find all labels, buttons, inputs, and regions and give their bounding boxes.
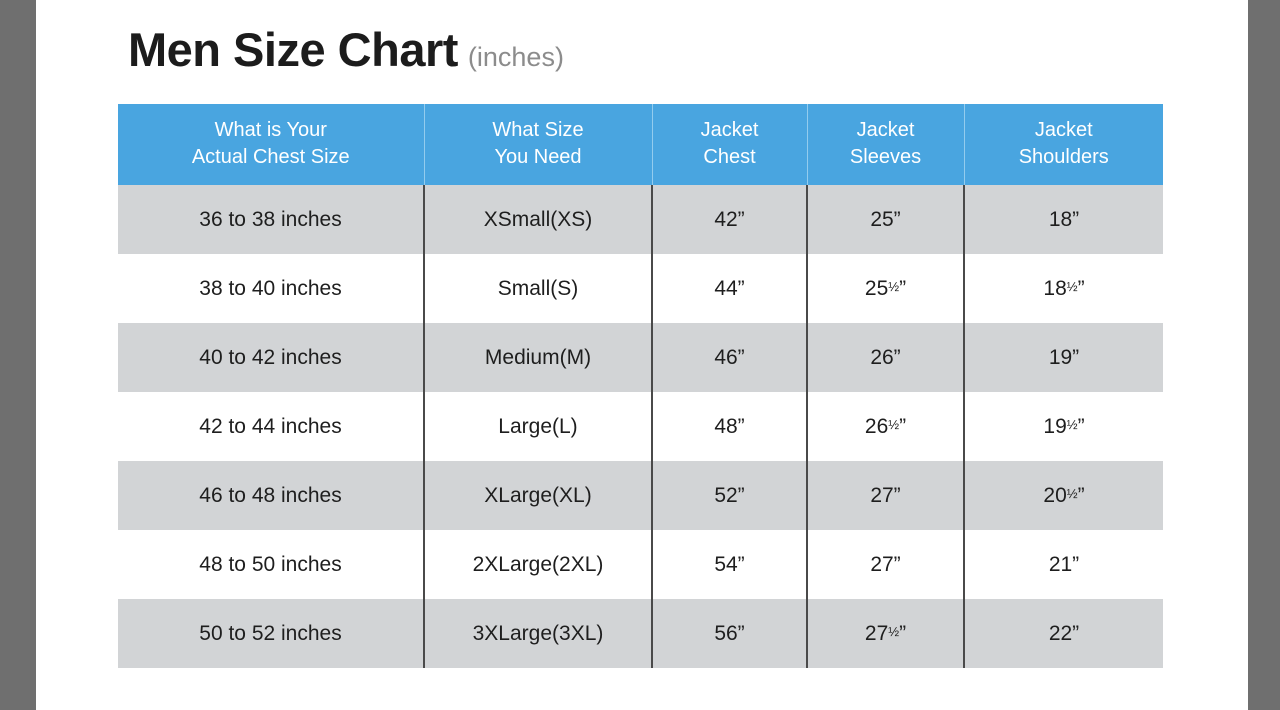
column-header-line1: Jacket xyxy=(812,117,960,144)
cell-size-you-need: Medium(M) xyxy=(424,323,652,392)
cell-actual-chest-size: 38 to 40 inches xyxy=(118,254,424,323)
table-row: 38 to 40 inchesSmall(S)44”25½”18½” xyxy=(118,254,1163,323)
page-title-unit: (inches) xyxy=(468,42,564,73)
column-header-jacket-sleeves: Jacket Sleeves xyxy=(807,104,964,185)
column-header-line1: Jacket xyxy=(657,117,803,144)
cell-jacket-chest: 54” xyxy=(652,530,807,599)
column-header-line2: Actual Chest Size xyxy=(122,144,420,171)
cell-size-you-need: Large(L) xyxy=(424,392,652,461)
column-header-size-you-need: What Size You Need xyxy=(424,104,652,185)
cell-jacket-sleeves: 27” xyxy=(807,530,964,599)
cell-jacket-chest: 42” xyxy=(652,185,807,254)
column-header-line1: What is Your xyxy=(122,117,420,144)
cell-jacket-shoulders: 19½” xyxy=(964,392,1163,461)
cell-actual-chest-size: 50 to 52 inches xyxy=(118,599,424,668)
cell-jacket-sleeves: 25” xyxy=(807,185,964,254)
size-chart-table: What is Your Actual Chest Size What Size… xyxy=(118,104,1163,668)
half-fraction: ½ xyxy=(1067,485,1078,500)
cell-jacket-chest: 52” xyxy=(652,461,807,530)
table-row: 42 to 44 inchesLarge(L)48”26½”19½” xyxy=(118,392,1163,461)
column-header-jacket-chest: Jacket Chest xyxy=(652,104,807,185)
cell-jacket-chest: 44” xyxy=(652,254,807,323)
cell-actual-chest-size: 46 to 48 inches xyxy=(118,461,424,530)
column-header-line2: You Need xyxy=(429,144,648,171)
column-header-jacket-shoulders: Jacket Shoulders xyxy=(964,104,1163,185)
column-header-actual-chest-size: What is Your Actual Chest Size xyxy=(118,104,424,185)
cell-size-you-need: 3XLarge(3XL) xyxy=(424,599,652,668)
cell-size-you-need: XSmall(XS) xyxy=(424,185,652,254)
chart-page: Men Size Chart (inches) What is Your Act… xyxy=(36,0,1248,710)
table-body: 36 to 38 inchesXSmall(XS)42”25”18”38 to … xyxy=(118,185,1163,668)
table-row: 50 to 52 inches3XLarge(3XL)56”27½”22” xyxy=(118,599,1163,668)
letterbox-bar-right xyxy=(1248,0,1280,710)
cell-jacket-shoulders: 22” xyxy=(964,599,1163,668)
table-row: 46 to 48 inchesXLarge(XL)52”27”20½” xyxy=(118,461,1163,530)
cell-jacket-chest: 46” xyxy=(652,323,807,392)
table-header-row: What is Your Actual Chest Size What Size… xyxy=(118,104,1163,185)
cell-actual-chest-size: 48 to 50 inches xyxy=(118,530,424,599)
cell-jacket-shoulders: 19” xyxy=(964,323,1163,392)
cell-actual-chest-size: 42 to 44 inches xyxy=(118,392,424,461)
cell-jacket-shoulders: 18” xyxy=(964,185,1163,254)
cell-jacket-chest: 48” xyxy=(652,392,807,461)
cell-jacket-sleeves: 26” xyxy=(807,323,964,392)
page-title-main: Men Size Chart xyxy=(128,22,458,77)
half-fraction: ½ xyxy=(1067,278,1078,293)
table-row: 36 to 38 inchesXSmall(XS)42”25”18” xyxy=(118,185,1163,254)
cell-jacket-sleeves: 27½” xyxy=(807,599,964,668)
cell-actual-chest-size: 40 to 42 inches xyxy=(118,323,424,392)
cell-jacket-shoulders: 18½” xyxy=(964,254,1163,323)
table-header: What is Your Actual Chest Size What Size… xyxy=(118,104,1163,185)
column-header-line1: Jacket xyxy=(969,117,1160,144)
page-title: Men Size Chart (inches) xyxy=(128,22,564,77)
cell-jacket-shoulders: 20½” xyxy=(964,461,1163,530)
table-row: 48 to 50 inches2XLarge(2XL)54”27”21” xyxy=(118,530,1163,599)
cell-size-you-need: 2XLarge(2XL) xyxy=(424,530,652,599)
cell-jacket-sleeves: 27” xyxy=(807,461,964,530)
cell-jacket-sleeves: 26½” xyxy=(807,392,964,461)
cell-size-you-need: Small(S) xyxy=(424,254,652,323)
cell-actual-chest-size: 36 to 38 inches xyxy=(118,185,424,254)
cell-size-you-need: XLarge(XL) xyxy=(424,461,652,530)
column-header-line2: Shoulders xyxy=(969,144,1160,171)
half-fraction: ½ xyxy=(888,416,899,431)
half-fraction: ½ xyxy=(1067,416,1078,431)
column-header-line2: Sleeves xyxy=(812,144,960,171)
column-header-line1: What Size xyxy=(429,117,648,144)
half-fraction: ½ xyxy=(888,623,899,638)
column-header-line2: Chest xyxy=(657,144,803,171)
cell-jacket-sleeves: 25½” xyxy=(807,254,964,323)
letterbox-bar-left xyxy=(0,0,36,710)
half-fraction: ½ xyxy=(888,278,899,293)
cell-jacket-shoulders: 21” xyxy=(964,530,1163,599)
cell-jacket-chest: 56” xyxy=(652,599,807,668)
table-row: 40 to 42 inchesMedium(M)46”26”19” xyxy=(118,323,1163,392)
